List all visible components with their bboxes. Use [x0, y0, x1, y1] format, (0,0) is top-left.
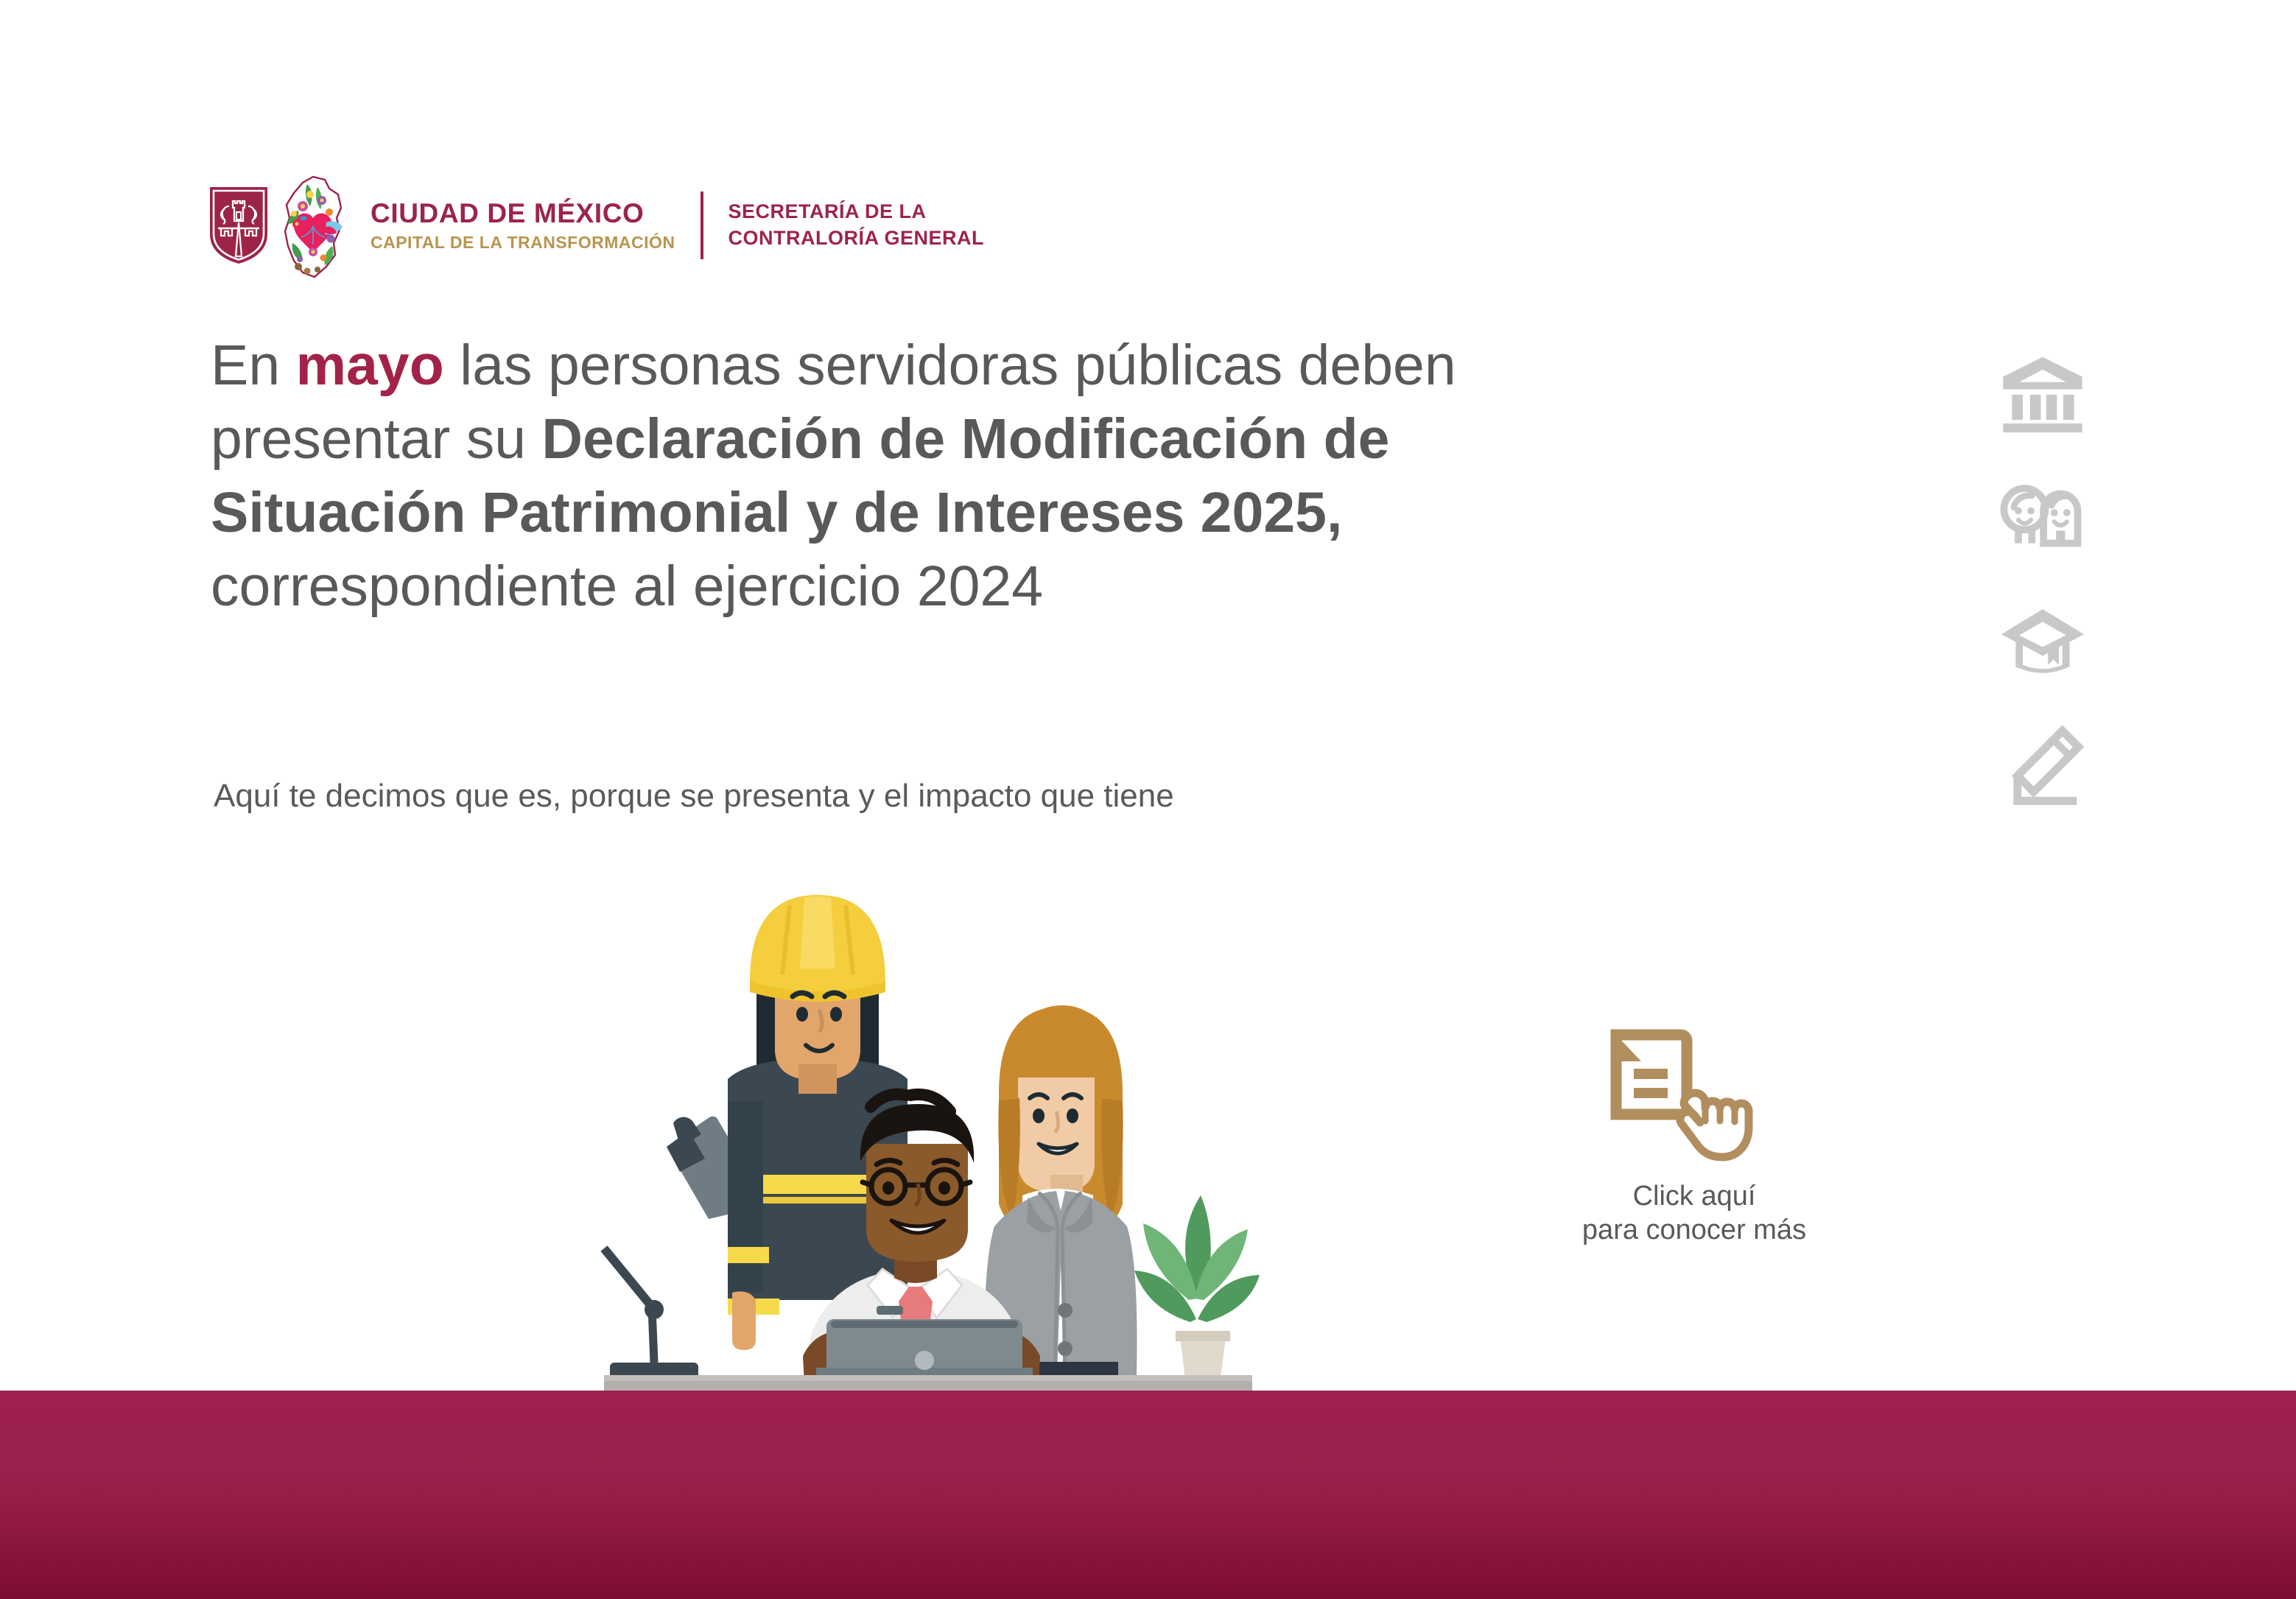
page-subtitle: Aquí te decimos que es, porque se presen…	[214, 775, 1613, 817]
cdmx-wordmark: CIUDAD DE MÉXICO CAPITAL DE LA TRANSFORM…	[371, 200, 675, 251]
secretaria-contraloria-wordmark: SECRETARÍA DE LA CONTRALORÍA GENERAL	[729, 199, 985, 251]
document-with-pointing-hand-icon[interactable]	[1598, 1027, 1790, 1175]
cta-line-2[interactable]: para conocer más	[1554, 1213, 1834, 1247]
page-headline: En mayo las personas servidoras públicas…	[211, 328, 1610, 623]
pencil-icon	[1998, 722, 2088, 812]
cdmx-wordmark-main: CIUDAD DE MÉXICO	[371, 200, 675, 227]
cdmx-wordmark-sub: CAPITAL DE LA TRANSFORMACIÓN	[371, 234, 675, 251]
institutional-logo-bar: CIUDAD DE MÉXICO CAPITAL DE LA TRANSFORM…	[208, 168, 984, 283]
three-public-servants-at-desk-illustration	[582, 880, 1267, 1396]
side-icon-column	[1998, 346, 2116, 812]
potted-plant-icon	[1134, 1195, 1260, 1385]
headline-highlight-month: mayo	[296, 334, 444, 397]
secretaria-line-2: CONTRALORÍA GENERAL	[729, 225, 985, 252]
cdmx-floral-map-emblem-icon	[281, 172, 348, 283]
headline-part-3: correspondiente al ejercicio 2024	[211, 555, 1043, 618]
poster-canvas: CIUDAD DE MÉXICO CAPITAL DE LA TRANSFORM…	[0, 0, 2296, 1599]
secretaria-line-1: SECRETARÍA DE LA	[729, 199, 985, 225]
cta-line-1[interactable]: Click aquí	[1554, 1179, 1834, 1213]
two-people-icon	[1998, 471, 2088, 561]
bank-icon	[1998, 346, 2088, 436]
cdmx-coat-of-arms-shield-icon	[208, 186, 269, 265]
headline-part-1: En	[211, 334, 296, 397]
logo-divider	[701, 191, 703, 259]
bottom-brand-bar	[0, 1391, 2296, 1599]
click-here-cta[interactable]: Click aquí para conocer más	[1554, 1027, 1834, 1248]
graduation-cap-icon	[1998, 597, 2088, 686]
